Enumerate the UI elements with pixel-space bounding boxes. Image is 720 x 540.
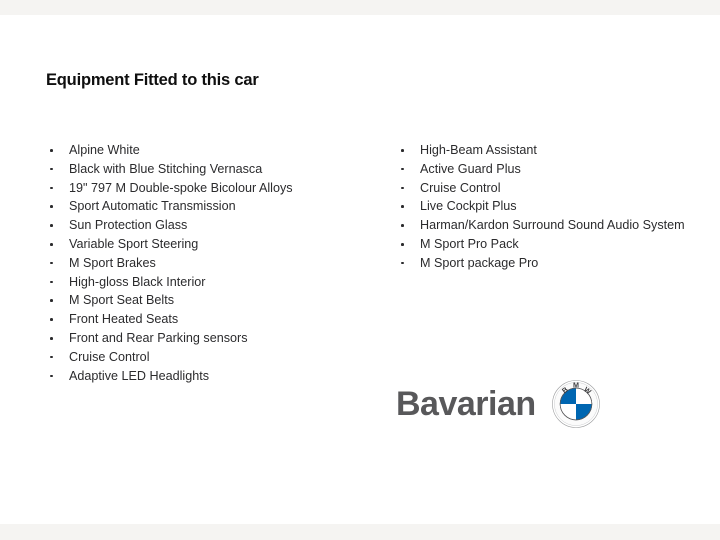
list-item-label: M Sport package Pro (420, 256, 538, 270)
bullet-icon (50, 318, 53, 321)
bullet-icon (50, 224, 53, 227)
equipment-list-right: High-Beam Assistant Active Guard Plus Cr… (397, 141, 687, 273)
bullet-icon (401, 187, 404, 190)
list-item: Front Heated Seats (46, 310, 366, 329)
list-item: Live Cockpit Plus (397, 197, 687, 216)
list-item: Adaptive LED Headlights (46, 367, 366, 386)
list-item: Variable Sport Steering (46, 235, 366, 254)
list-item-label: Sport Automatic Transmission (69, 199, 236, 213)
bavarian-wordmark: Bavarian (396, 387, 536, 421)
list-item: Sun Protection Glass (46, 216, 366, 235)
list-item-label: Cruise Control (420, 181, 501, 195)
bullet-icon (50, 337, 53, 340)
list-item-label: Alpine White (69, 143, 140, 157)
bullet-icon (50, 187, 53, 190)
list-item-label: Black with Blue Stitching Vernasca (69, 162, 262, 176)
list-item: Harman/Kardon Surround Sound Audio Syste… (397, 216, 687, 235)
bullet-icon (401, 243, 404, 246)
bottom-border-band (0, 524, 720, 540)
svg-text:M: M (573, 381, 579, 390)
bullet-icon (401, 262, 404, 265)
list-item: Cruise Control (46, 348, 366, 367)
slide-content: Equipment Fitted to this car Alpine Whit… (0, 15, 720, 524)
list-item-label: Variable Sport Steering (69, 237, 198, 251)
list-item: High-Beam Assistant (397, 141, 687, 160)
bullet-icon (50, 375, 53, 378)
page-title: Equipment Fitted to this car (46, 71, 259, 90)
list-item: Cruise Control (397, 179, 687, 198)
bullet-icon (50, 149, 53, 152)
list-item: M Sport Seat Belts (46, 291, 366, 310)
slide-page: Equipment Fitted to this car Alpine Whit… (0, 0, 720, 540)
list-item: High-gloss Black Interior (46, 273, 366, 292)
list-item-label: High-Beam Assistant (420, 143, 537, 157)
top-border-band (0, 0, 720, 15)
bullet-icon (50, 262, 53, 265)
list-item: 19" 797 M Double-spoke Bicolour Alloys (46, 179, 366, 198)
list-item-label: Adaptive LED Headlights (69, 369, 209, 383)
equipment-list-left: Alpine White Black with Blue Stitching V… (46, 141, 366, 385)
list-item-label: Live Cockpit Plus (420, 199, 517, 213)
list-item-label: M Sport Pro Pack (420, 237, 519, 251)
list-item-label: High-gloss Black Interior (69, 275, 205, 289)
bmw-roundel-icon: B M W (552, 380, 600, 428)
bullet-icon (50, 168, 53, 171)
bullet-icon (401, 149, 404, 152)
list-item-label: Front Heated Seats (69, 312, 178, 326)
list-item: Sport Automatic Transmission (46, 197, 366, 216)
list-item: Alpine White (46, 141, 366, 160)
bullet-icon (50, 243, 53, 246)
list-item: Black with Blue Stitching Vernasca (46, 160, 366, 179)
list-item-label: Cruise Control (69, 350, 150, 364)
bullet-icon (401, 168, 404, 171)
list-item-label: Active Guard Plus (420, 162, 521, 176)
bullet-icon (401, 205, 404, 208)
list-item-label: 19" 797 M Double-spoke Bicolour Alloys (69, 181, 293, 195)
list-item-label: Front and Rear Parking sensors (69, 331, 248, 345)
bullet-icon (50, 356, 53, 359)
bullet-icon (50, 281, 53, 284)
list-item: Front and Rear Parking sensors (46, 329, 366, 348)
brand-logo-block: Bavarian B M W (396, 380, 600, 428)
list-item-label: M Sport Brakes (69, 256, 156, 270)
list-item: M Sport Brakes (46, 254, 366, 273)
list-item: M Sport package Pro (397, 254, 687, 273)
list-item-label: Harman/Kardon Surround Sound Audio Syste… (420, 218, 685, 232)
list-item: M Sport Pro Pack (397, 235, 687, 254)
list-item-label: Sun Protection Glass (69, 218, 187, 232)
bullet-icon (50, 205, 53, 208)
bullet-icon (401, 224, 404, 227)
list-item: Active Guard Plus (397, 160, 687, 179)
bullet-icon (50, 299, 53, 302)
list-item-label: M Sport Seat Belts (69, 293, 174, 307)
